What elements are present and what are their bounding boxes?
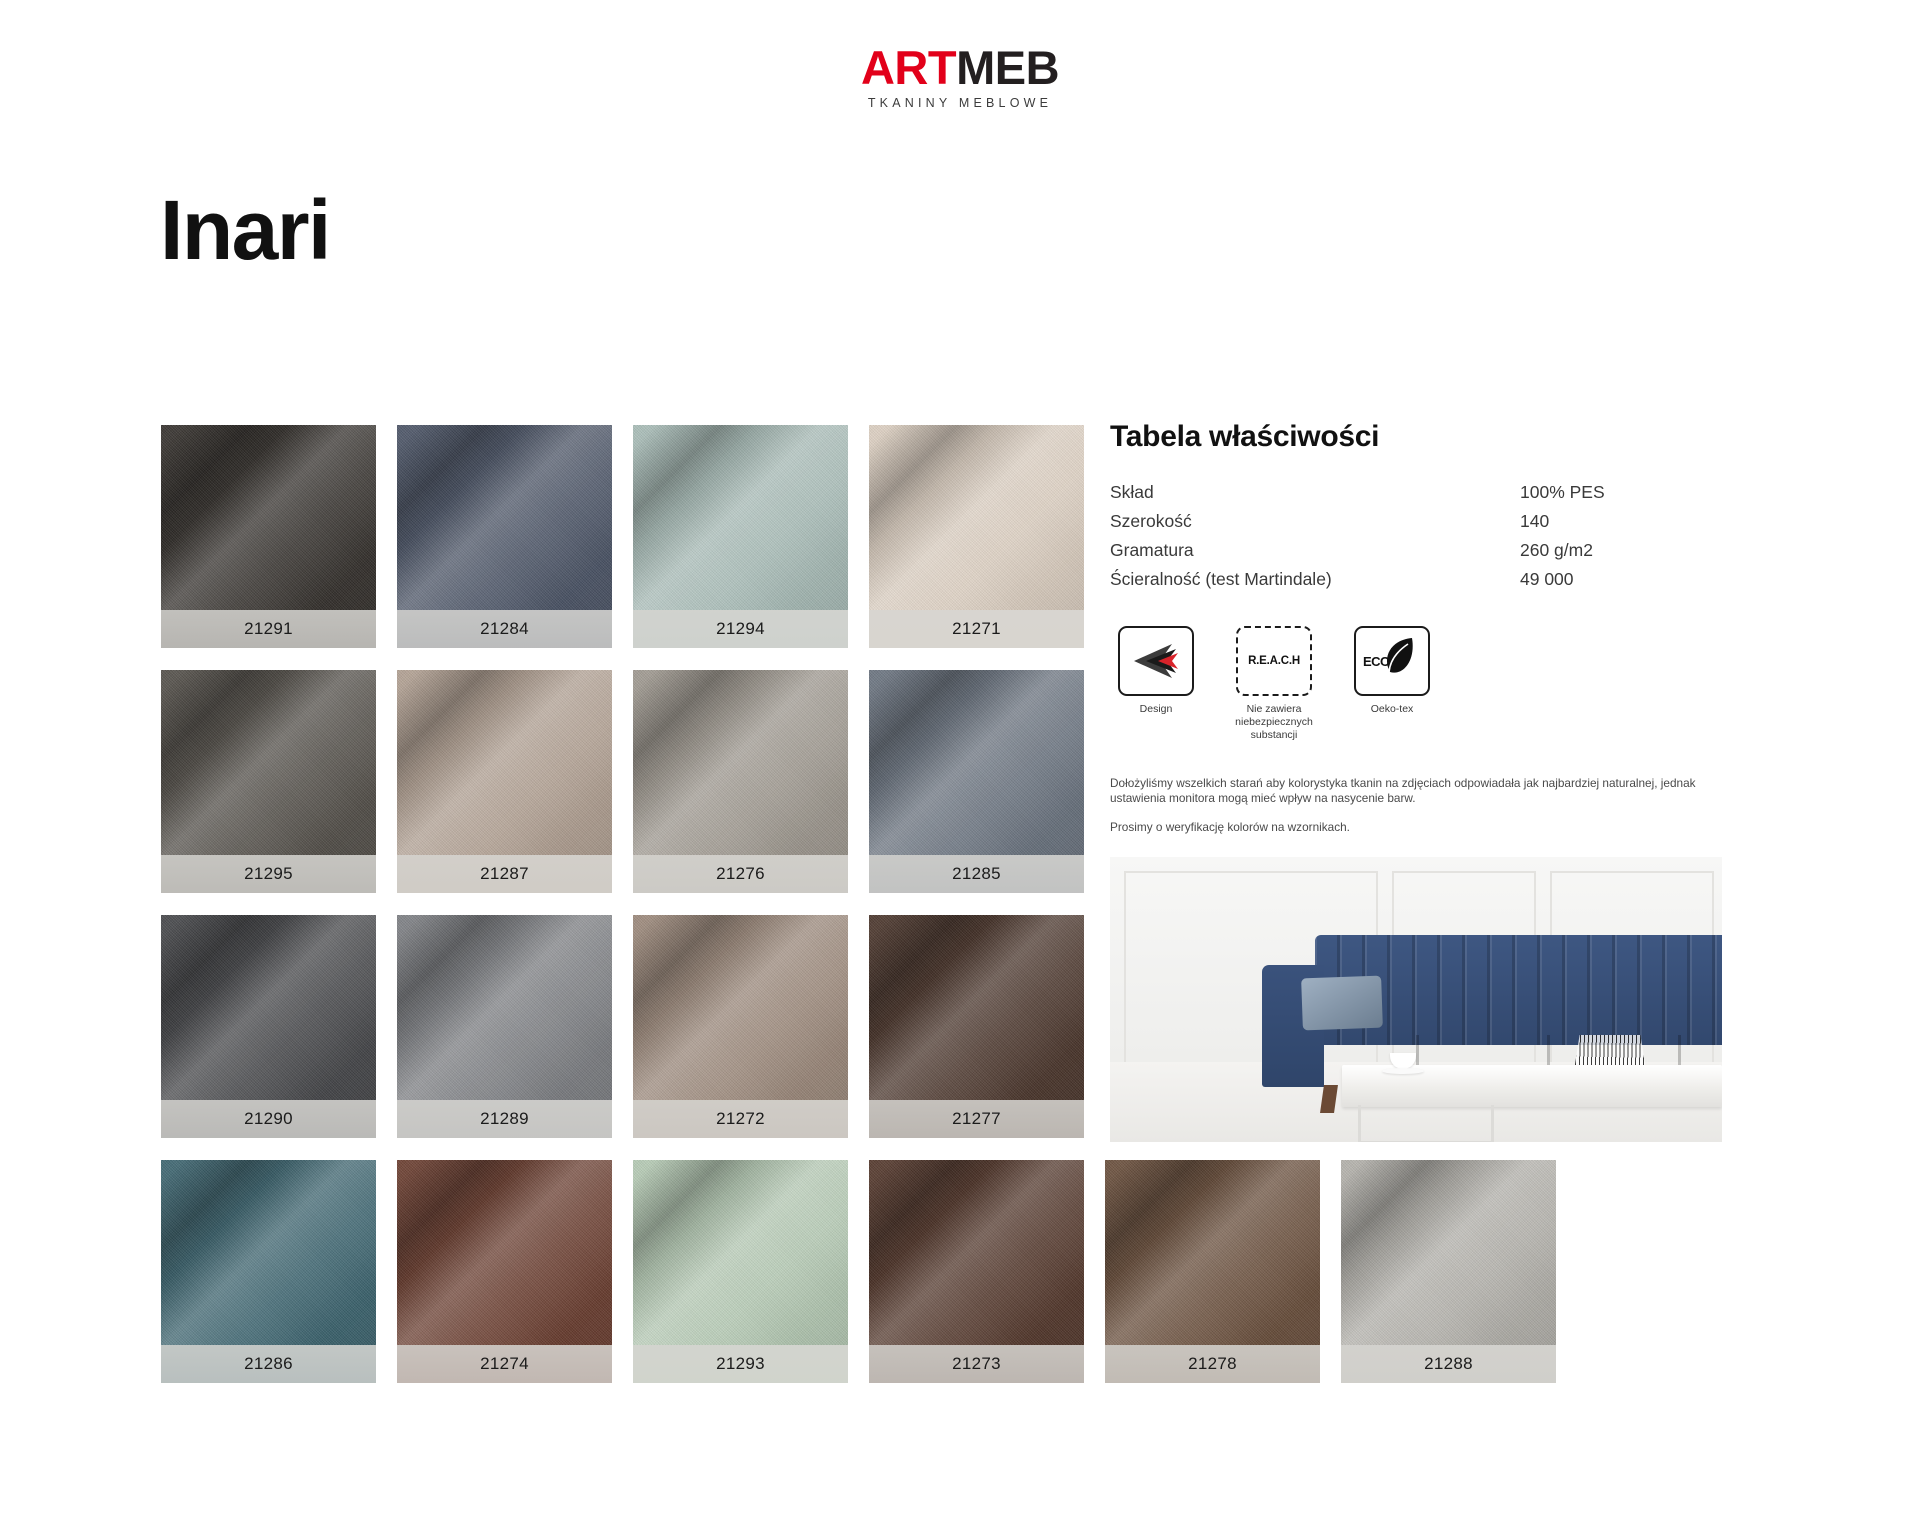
reach-icon-text: R.E.A.C.H xyxy=(1238,655,1310,667)
swatch-image xyxy=(161,1160,376,1345)
brand-logo: ARTMEB TKANINY MEBLOWE xyxy=(0,44,1920,110)
swatch-code-label: 21286 xyxy=(161,1345,376,1383)
logo-meb-text: MEB xyxy=(956,41,1059,94)
table-row: Gramatura 260 g/m2 xyxy=(1110,540,1730,569)
swatch-row: 21286 21274 21293 21273 xyxy=(161,1160,1261,1383)
disclaimer-paragraph-2: Prosimy o weryfikację kolorów na wzornik… xyxy=(1110,820,1720,835)
swatch-21295[interactable]: 21295 xyxy=(161,670,376,893)
swatch-code-label: 21294 xyxy=(633,610,848,648)
swatch-code-label: 21271 xyxy=(869,610,1084,648)
badge-reach-label: Nie zawiera niebezpiecznych substancji xyxy=(1228,703,1320,742)
reach-icon: R.E.A.C.H xyxy=(1236,626,1312,696)
color-disclaimer: Dołożyliśmy wszelkich starań aby kolorys… xyxy=(1110,776,1720,835)
swatch-image xyxy=(869,670,1084,855)
properties-table: Skład 100% PES Szerokość 140 Gramatura 2… xyxy=(1110,482,1730,598)
swatch-21291[interactable]: 21291 xyxy=(161,425,376,648)
swatch-image xyxy=(633,915,848,1100)
photo-throw-pillow xyxy=(1301,976,1383,1031)
swatch-21294[interactable]: 21294 xyxy=(633,425,848,648)
fabric-weave-texture xyxy=(161,425,376,610)
swatch-21293[interactable]: 21293 xyxy=(633,1160,848,1383)
swatch-image xyxy=(161,915,376,1100)
swatch-code-label: 21287 xyxy=(397,855,612,893)
eco-leaf-icon: ECO xyxy=(1354,626,1430,696)
fabric-weave-texture xyxy=(869,915,1084,1100)
photo-table-legs xyxy=(1358,1105,1494,1142)
swatch-image xyxy=(397,1160,612,1345)
properties-panel: Tabela właściwości Skład 100% PES Szerok… xyxy=(1110,420,1730,1142)
swatch-image xyxy=(633,1160,848,1345)
logo-wordmark: ARTMEB xyxy=(0,44,1920,91)
table-row: Ścieralność (test Martindale) 49 000 xyxy=(1110,569,1730,598)
property-label: Ścieralność (test Martindale) xyxy=(1110,569,1510,598)
swatch-21273[interactable]: 21273 xyxy=(869,1160,1084,1383)
fabric-weave-texture xyxy=(397,915,612,1100)
design-arrow-icon xyxy=(1118,626,1194,696)
swatch-code-label: 21273 xyxy=(869,1345,1084,1383)
fabric-weave-texture xyxy=(1341,1160,1556,1345)
swatch-code-label: 21274 xyxy=(397,1345,612,1383)
swatch-code-label: 21288 xyxy=(1341,1345,1556,1383)
swatch-code-label: 21289 xyxy=(397,1100,612,1138)
property-label: Szerokość xyxy=(1110,511,1510,540)
property-value: 260 g/m2 xyxy=(1510,540,1730,569)
swatch-21286[interactable]: 21286 xyxy=(161,1160,376,1383)
swatch-image xyxy=(161,670,376,855)
fabric-weave-texture xyxy=(633,1160,848,1345)
swatch-code-label: 21290 xyxy=(161,1100,376,1138)
fabric-weave-texture xyxy=(869,1160,1084,1345)
design-arrow-glyph xyxy=(1120,628,1192,694)
swatch-21288[interactable]: 21288 xyxy=(1341,1160,1556,1383)
fabric-weave-texture xyxy=(397,670,612,855)
table-row: Szerokość 140 xyxy=(1110,511,1730,540)
fabric-weave-texture xyxy=(161,915,376,1100)
swatch-21290[interactable]: 21290 xyxy=(161,915,376,1138)
photo-saucer xyxy=(1382,1068,1424,1074)
swatch-code-label: 21272 xyxy=(633,1100,848,1138)
fabric-weave-texture xyxy=(161,1160,376,1345)
disclaimer-paragraph-1: Dołożyliśmy wszelkich starań aby kolorys… xyxy=(1110,776,1720,806)
swatch-code-label: 21291 xyxy=(161,610,376,648)
fabric-weave-texture xyxy=(633,425,848,610)
swatch-image xyxy=(397,670,612,855)
fabric-weave-texture xyxy=(397,1160,612,1345)
swatch-21278[interactable]: 21278 xyxy=(1105,1160,1320,1383)
property-value: 100% PES xyxy=(1510,482,1730,511)
swatch-21289[interactable]: 21289 xyxy=(397,915,612,1138)
swatch-image xyxy=(397,915,612,1100)
property-value: 140 xyxy=(1510,511,1730,540)
swatch-image xyxy=(633,425,848,610)
swatch-21274[interactable]: 21274 xyxy=(397,1160,612,1383)
badge-oekotex-label: Oeko-tex xyxy=(1346,703,1438,716)
swatch-row: 21291 21284 21294 21271 xyxy=(161,425,1261,648)
swatch-code-label: 21277 xyxy=(869,1100,1084,1138)
certification-badges: Design R.E.A.C.H Nie zawiera niebezpiecz… xyxy=(1110,626,1730,742)
swatch-image xyxy=(869,1160,1084,1345)
swatch-code-label: 21293 xyxy=(633,1345,848,1383)
fabric-weave-texture xyxy=(161,670,376,855)
interior-photo xyxy=(1110,857,1722,1142)
swatch-image xyxy=(1105,1160,1320,1345)
fabric-swatch-grid: 21291 21284 21294 21271 xyxy=(161,425,1261,1405)
swatch-image xyxy=(397,425,612,610)
property-value: 49 000 xyxy=(1510,569,1730,598)
swatch-21284[interactable]: 21284 xyxy=(397,425,612,648)
badge-reach: R.E.A.C.H Nie zawiera niebezpiecznych su… xyxy=(1228,626,1320,742)
swatch-21272[interactable]: 21272 xyxy=(633,915,848,1138)
fabric-weave-texture xyxy=(869,425,1084,610)
badge-design: Design xyxy=(1110,626,1202,742)
swatch-image xyxy=(869,425,1084,610)
swatch-row: 21290 21289 21272 21277 xyxy=(161,915,1261,1138)
table-row: Skład 100% PES xyxy=(1110,482,1730,511)
logo-art-text: ART xyxy=(861,41,956,94)
swatch-21277[interactable]: 21277 xyxy=(869,915,1084,1138)
swatch-row: 21295 21287 21276 21285 xyxy=(161,670,1261,893)
fabric-weave-texture xyxy=(397,425,612,610)
swatch-code-label: 21276 xyxy=(633,855,848,893)
swatch-21276[interactable]: 21276 xyxy=(633,670,848,893)
badge-design-label: Design xyxy=(1110,703,1202,716)
logo-tagline: TKANINY MEBLOWE xyxy=(0,96,1920,110)
swatch-code-label: 21278 xyxy=(1105,1345,1320,1383)
swatch-21287[interactable]: 21287 xyxy=(397,670,612,893)
swatch-code-label: 21285 xyxy=(869,855,1084,893)
swatch-code-label: 21295 xyxy=(161,855,376,893)
fabric-weave-texture xyxy=(633,670,848,855)
eco-icon-text: ECO xyxy=(1363,654,1390,669)
badge-oekotex: ECO Oeko-tex xyxy=(1346,626,1438,742)
fabric-weave-texture xyxy=(1105,1160,1320,1345)
swatch-image xyxy=(869,915,1084,1100)
property-label: Gramatura xyxy=(1110,540,1510,569)
swatch-21285[interactable]: 21285 xyxy=(869,670,1084,893)
properties-title: Tabela właściwości xyxy=(1110,420,1730,454)
page-title: Inari xyxy=(160,188,330,272)
swatch-image xyxy=(633,670,848,855)
swatch-21271[interactable]: 21271 xyxy=(869,425,1084,648)
fabric-weave-texture xyxy=(869,670,1084,855)
swatch-image xyxy=(1341,1160,1556,1345)
fabric-weave-texture xyxy=(633,915,848,1100)
swatch-image xyxy=(161,425,376,610)
property-label: Skład xyxy=(1110,482,1510,511)
swatch-code-label: 21284 xyxy=(397,610,612,648)
